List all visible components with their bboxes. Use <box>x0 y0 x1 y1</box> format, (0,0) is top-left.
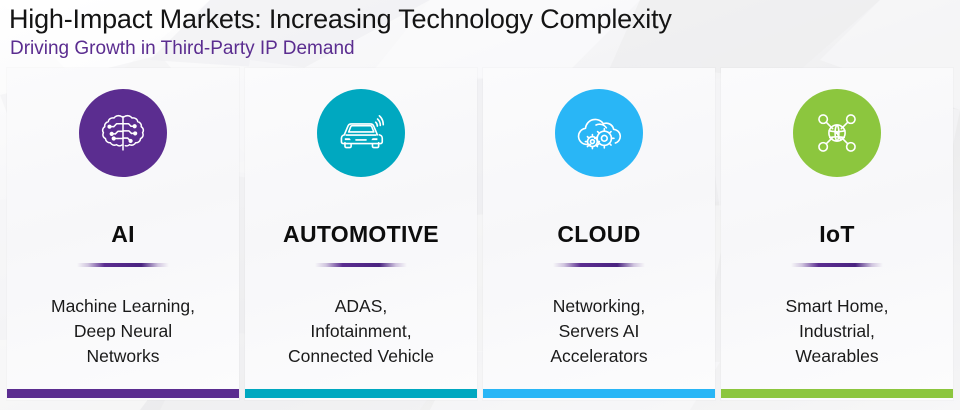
market-card-automotive[interactable]: AUTOMOTIVE ADAS, Infotainment, Connected… <box>245 68 477 400</box>
page-subtitle: Driving Growth in Third-Party IP Demand <box>10 37 355 61</box>
slide-root: High-Impact Markets: Increasing Technolo… <box>0 0 960 410</box>
page-title: High-Impact Markets: Increasing Technolo… <box>9 2 672 36</box>
iot-network-icon <box>810 106 864 160</box>
connected-car-icon <box>334 106 388 160</box>
market-card-cloud[interactable]: CLOUD Networking, Servers AI Accelerator… <box>483 68 715 400</box>
icon-circle-automotive <box>317 89 405 177</box>
accent-bar-automotive <box>245 389 477 398</box>
cloud-gears-icon <box>572 106 626 160</box>
card-title-automotive: AUTOMOTIVE <box>283 221 439 247</box>
market-card-iot[interactable]: IoT Smart Home, Industrial, Wearables <box>721 68 953 400</box>
accent-bar-iot <box>721 389 953 398</box>
card-divider-iot <box>791 263 883 267</box>
card-description-automotive: ADAS, Infotainment, Connected Vehicle <box>278 294 444 369</box>
card-title-iot: IoT <box>819 221 854 247</box>
market-card-ai[interactable]: AI Machine Learning, Deep Neural Network… <box>7 68 239 400</box>
card-description-iot: Smart Home, Industrial, Wearables <box>775 294 898 369</box>
card-title-cloud: CLOUD <box>557 221 640 247</box>
card-divider-ai <box>77 263 169 267</box>
card-description-ai: Machine Learning, Deep Neural Networks <box>41 294 205 369</box>
icon-circle-cloud <box>555 89 643 177</box>
brain-icon <box>96 106 150 160</box>
accent-bar-cloud <box>483 389 715 398</box>
card-divider-cloud <box>553 263 645 267</box>
card-title-ai: AI <box>111 221 135 247</box>
card-description-cloud: Networking, Servers AI Accelerators <box>540 294 657 369</box>
market-cards-row: AI Machine Learning, Deep Neural Network… <box>7 68 953 400</box>
header: High-Impact Markets: Increasing Technolo… <box>0 0 960 68</box>
icon-circle-iot <box>793 89 881 177</box>
icon-circle-ai <box>79 89 167 177</box>
card-divider-automotive <box>315 263 407 267</box>
accent-bar-ai <box>7 389 239 398</box>
